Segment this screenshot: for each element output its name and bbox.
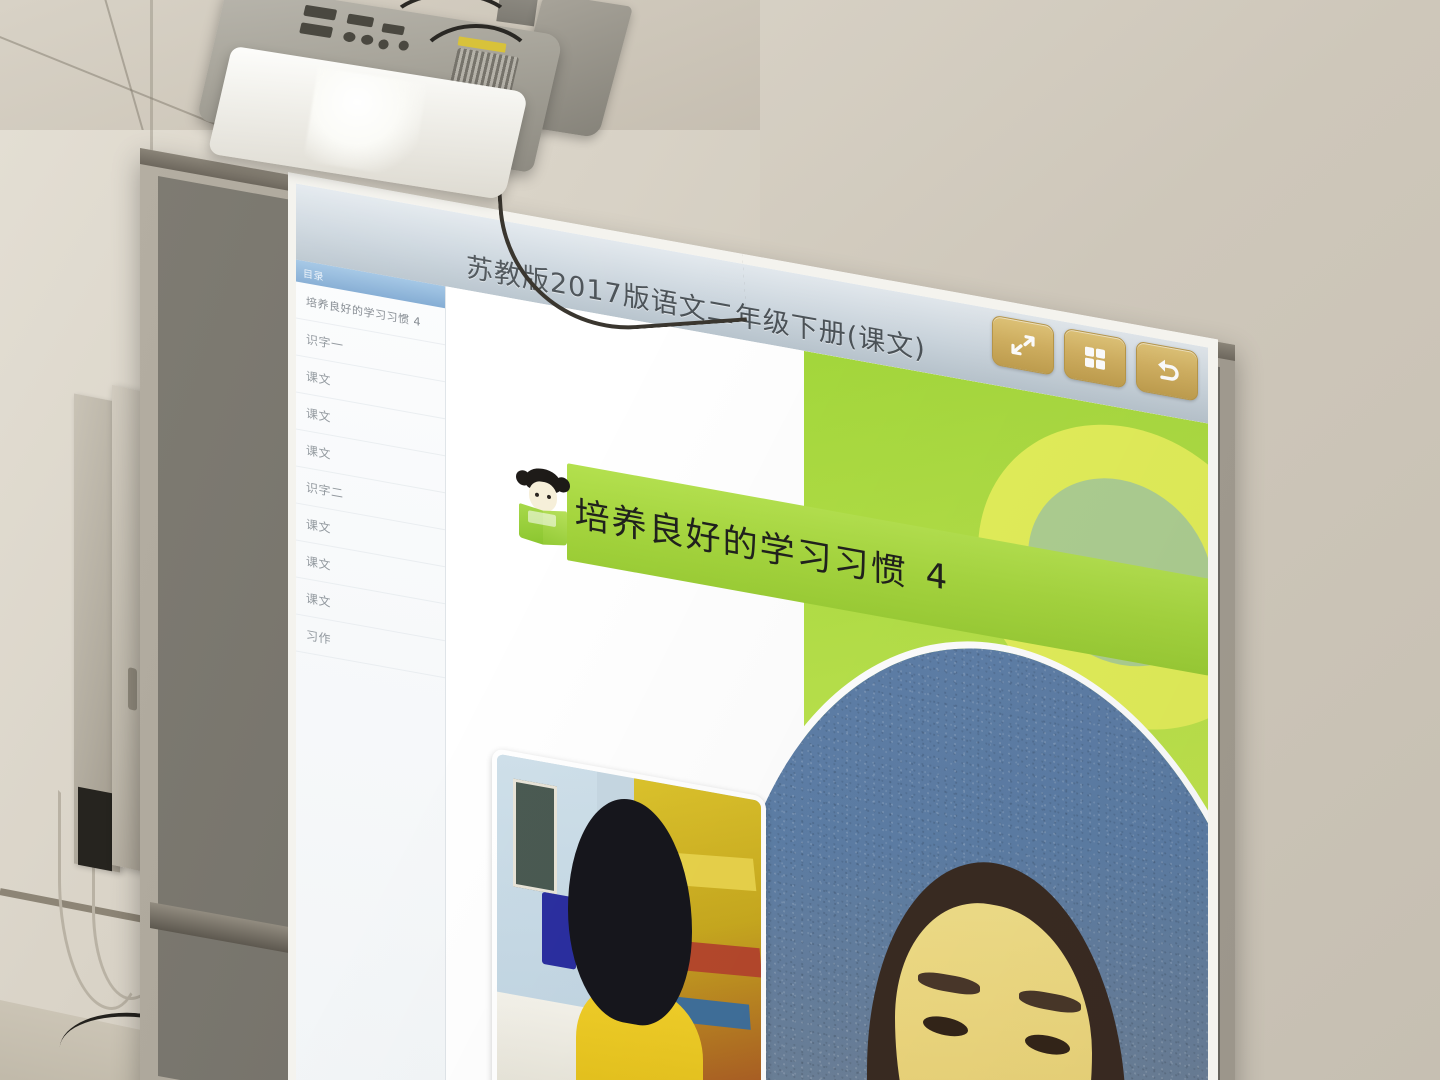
grid-four-squares-icon xyxy=(1081,342,1109,375)
toc-list[interactable]: 培养良好的学习习惯 4 识字一 课文 课文 课文 识字二 课文 课文 课文 习作 xyxy=(296,281,445,1080)
projector-cable-3 xyxy=(414,24,538,116)
lesson-page-content[interactable]: 培养良好的学习习惯 4 xyxy=(446,286,1208,1080)
app-toolbar xyxy=(992,315,1198,402)
projector-lens-glow xyxy=(303,67,427,178)
sidebar-item-label: 课文 xyxy=(306,441,331,463)
sidebar-item-label: 识字二 xyxy=(306,478,344,502)
sidebar-item-label: 课文 xyxy=(306,589,331,611)
fullscreen-button[interactable] xyxy=(992,315,1054,376)
sidebar-item-label: 课文 xyxy=(306,367,331,389)
lesson-number-text: 4 xyxy=(926,555,950,599)
projected-image-area: 苏教版2017版语文二年级下册(课文) xyxy=(288,172,1218,1080)
back-undo-arrow-icon xyxy=(1152,354,1182,387)
toc-sidebar-header-label: 目录 xyxy=(303,264,324,283)
sidebar-item-label: 课文 xyxy=(306,552,331,574)
sidebar-item-label: 课文 xyxy=(306,404,331,426)
sidebar-item-label: 课文 xyxy=(306,515,331,537)
back-button[interactable] xyxy=(1136,341,1198,402)
ceiling-mounted-projector xyxy=(200,0,620,195)
girl-reading-book-icon xyxy=(515,462,571,550)
sidebar-item-label: 习作 xyxy=(306,626,331,648)
sidebar-item-label: 识字一 xyxy=(306,330,344,354)
fullscreen-arrows-icon xyxy=(1008,328,1038,363)
grid-menu-button[interactable] xyxy=(1064,328,1126,389)
child-studying-at-desk-photo xyxy=(492,748,766,1080)
toc-sidebar[interactable]: 目录 培养良好的学习习惯 4 识字一 课文 课文 课文 识字二 课文 课文 课文… xyxy=(296,259,446,1080)
inset-photo-picture-frame xyxy=(513,778,558,894)
